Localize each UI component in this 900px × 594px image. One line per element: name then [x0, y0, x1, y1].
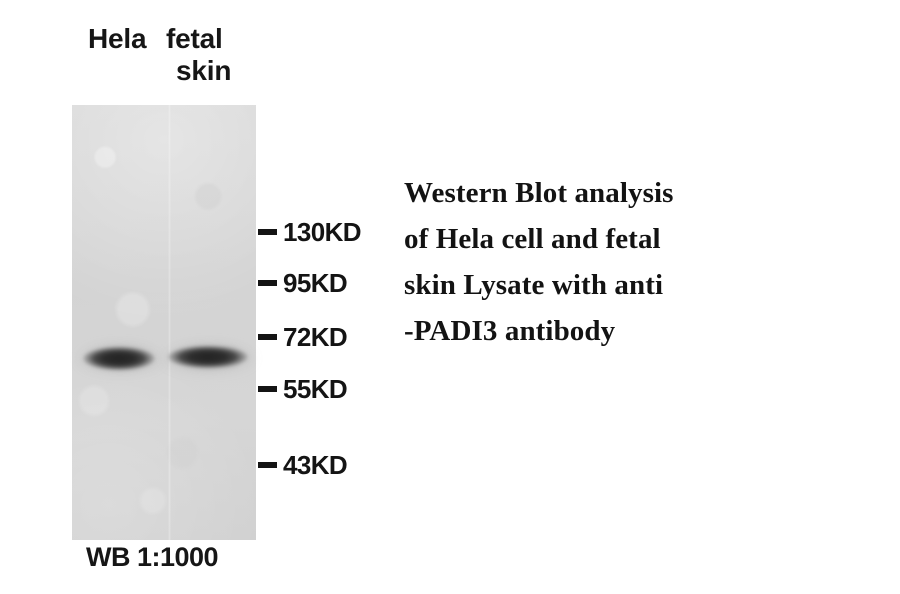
lane-label-fetal-skin-line2: skin	[176, 56, 231, 85]
band-hela	[83, 346, 155, 371]
caption-line-1: Western Blot analysis	[404, 170, 804, 216]
mw-marker-130kd: 130KD	[258, 217, 361, 247]
mw-label-55kd: 55KD	[283, 374, 347, 405]
mw-marker-72kd: 72KD	[258, 322, 347, 352]
figure-caption: Western Blot analysis of Hela cell and f…	[404, 170, 804, 354]
mw-label-43kd: 43KD	[283, 450, 347, 481]
lane-divider	[168, 105, 171, 540]
mw-tick-icon	[258, 386, 277, 392]
caption-line-4: -PADI3 antibody	[404, 308, 804, 354]
mw-label-130kd: 130KD	[283, 217, 361, 248]
mw-tick-icon	[258, 280, 277, 286]
lane-label-hela: Hela	[88, 24, 146, 53]
band-fetal-skin	[168, 345, 248, 369]
mw-tick-icon	[258, 334, 277, 340]
mw-tick-icon	[258, 229, 277, 235]
mw-label-72kd: 72KD	[283, 322, 347, 353]
mw-label-95kd: 95KD	[283, 268, 347, 299]
blot-membrane	[72, 105, 256, 540]
mw-marker-95kd: 95KD	[258, 268, 347, 298]
caption-line-2: of Hela cell and fetal	[404, 216, 804, 262]
western-blot-figure: Hela fetal skin 130KD 95KD 72KD 55KD	[0, 0, 900, 594]
caption-line-3: skin Lysate with anti	[404, 262, 804, 308]
mw-marker-43kd: 43KD	[258, 450, 347, 480]
mw-tick-icon	[258, 462, 277, 468]
wb-dilution-label: WB 1:1000	[86, 542, 218, 573]
lane-label-fetal: fetal	[166, 24, 223, 53]
mw-marker-ladder: 130KD 95KD 72KD 55KD 43KD	[258, 0, 408, 594]
mw-marker-55kd: 55KD	[258, 374, 347, 404]
membrane-grain	[72, 105, 256, 540]
